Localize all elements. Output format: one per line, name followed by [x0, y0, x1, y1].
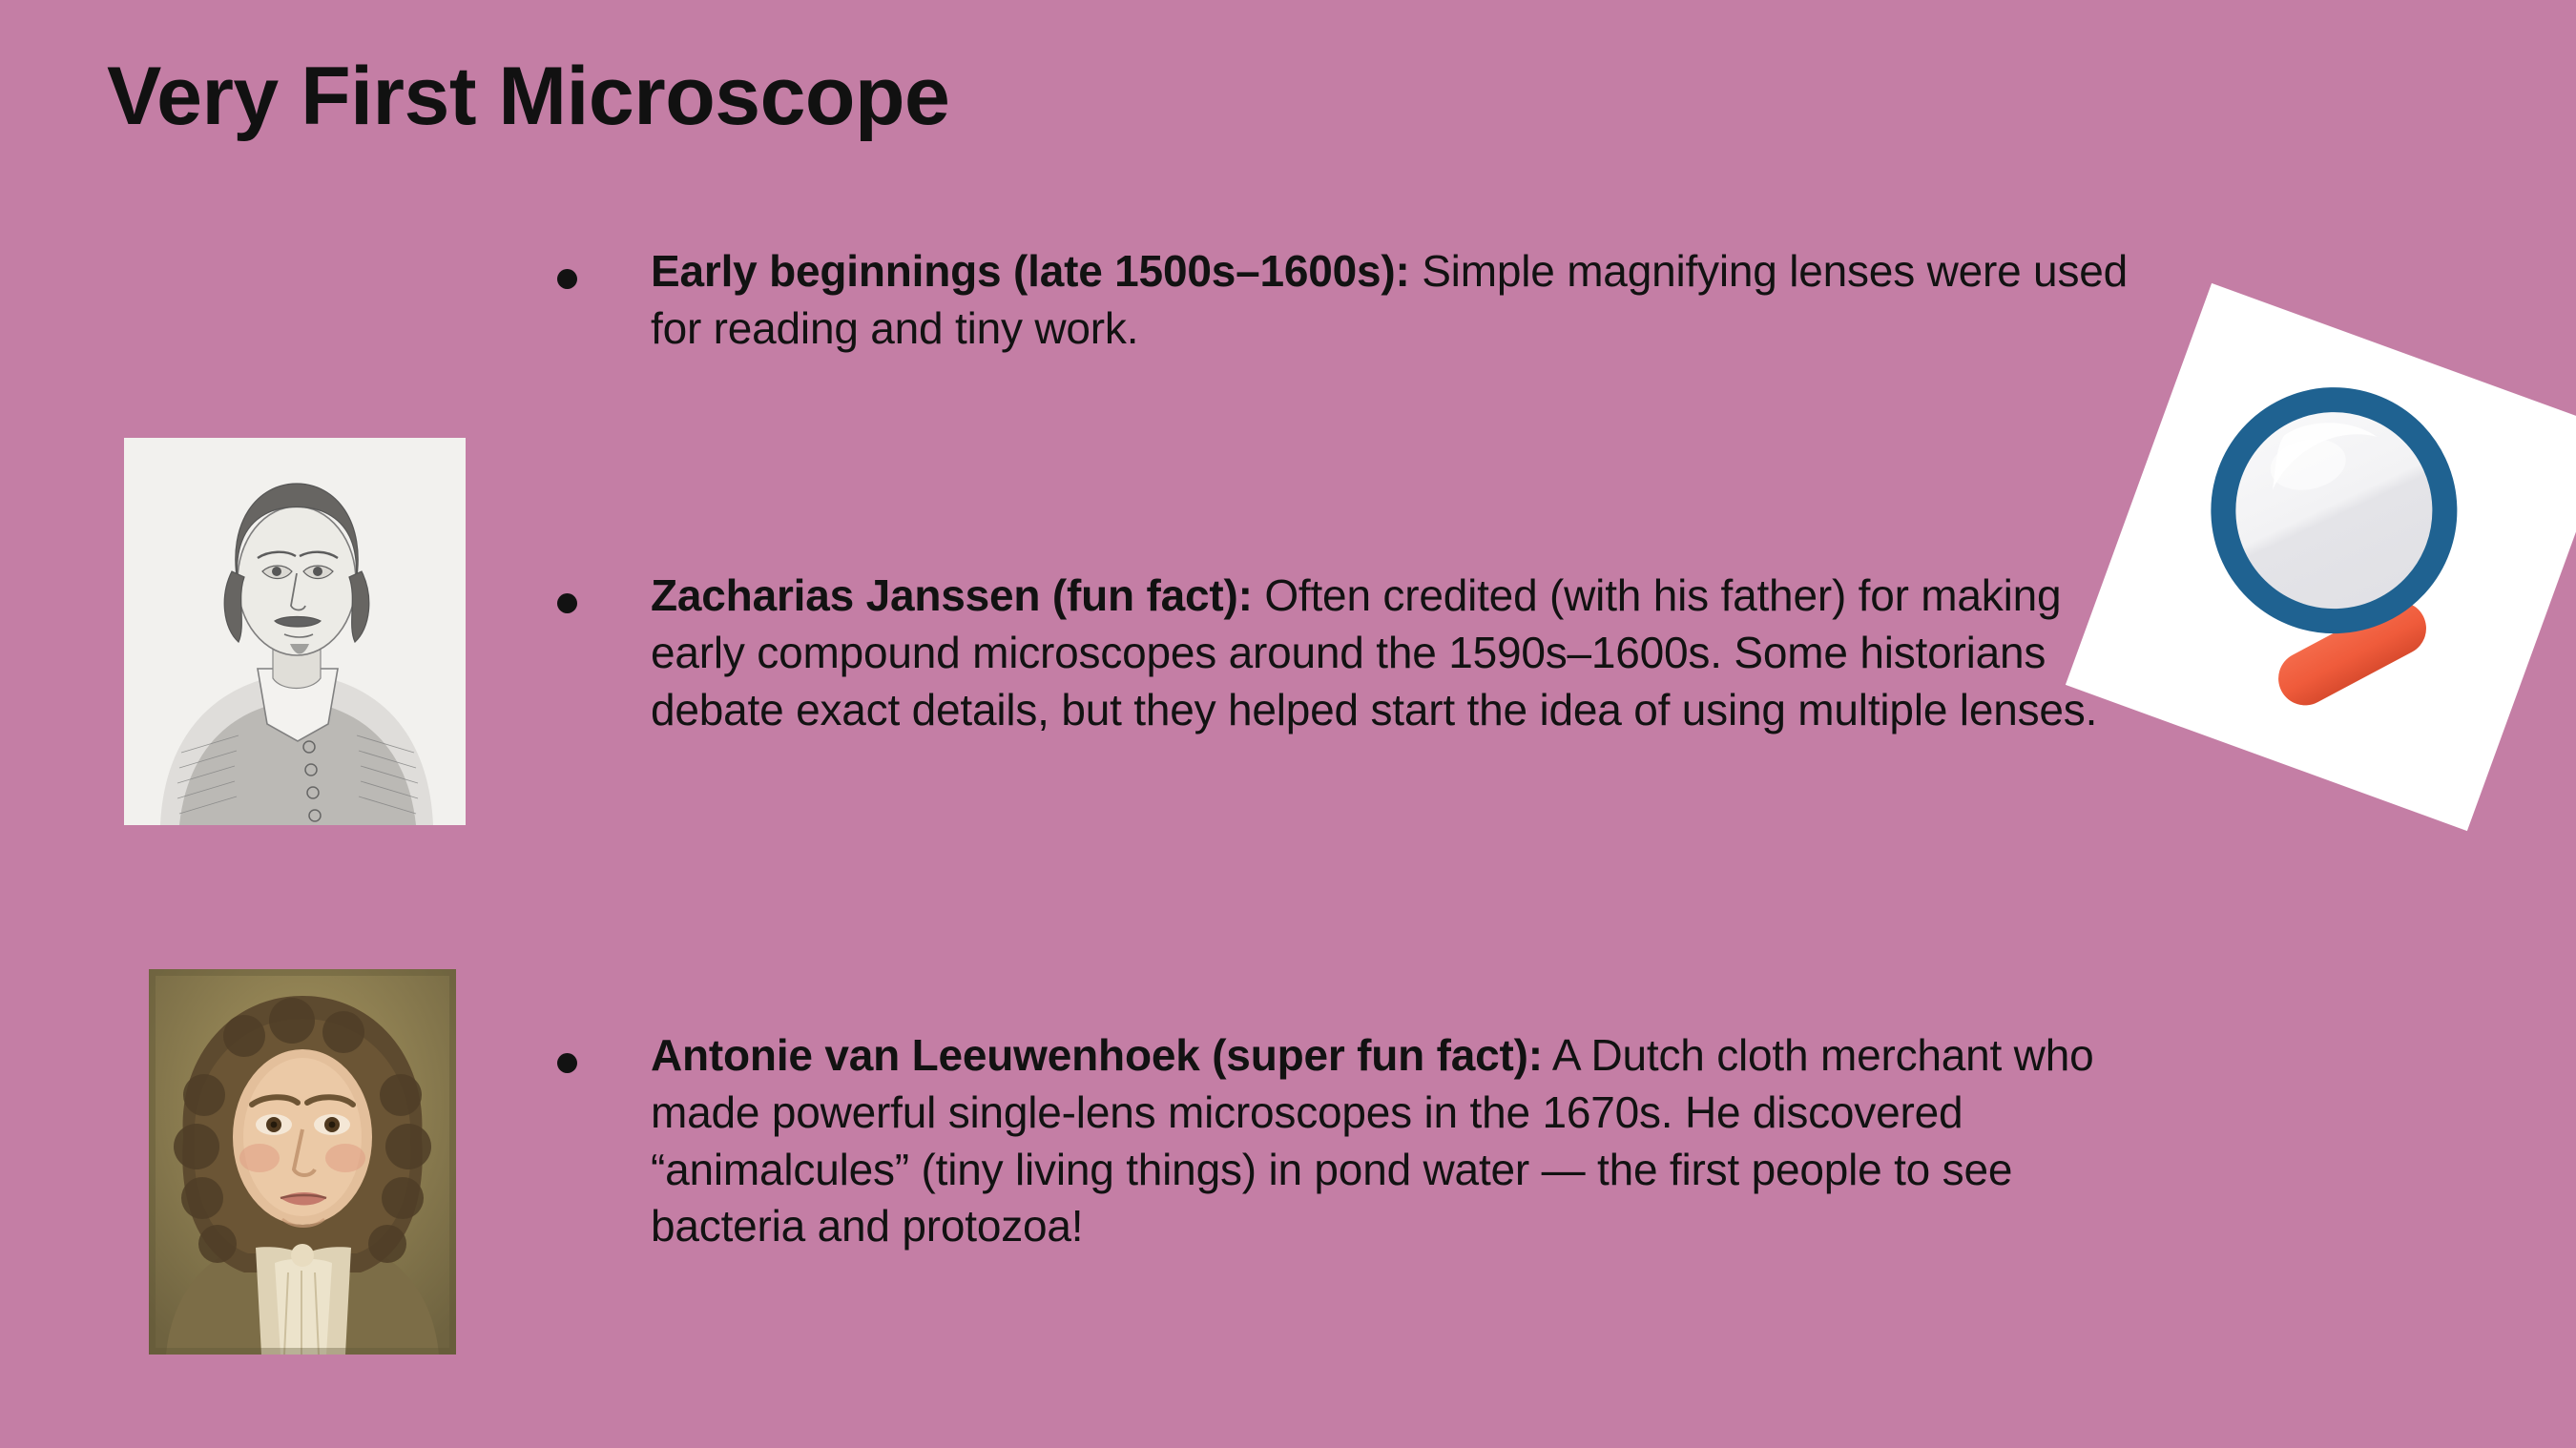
list-item: Zacharias Janssen (fun fact): Often cred…	[539, 568, 2151, 738]
bullet-lead: Antonie van Leeuwenhoek (super fun fact)…	[651, 1030, 1543, 1080]
portrait-antonie-van-leeuwenhoek	[149, 969, 456, 1355]
antonie-van-leeuwenhoek-painting-icon	[149, 969, 456, 1355]
bullet-lead: Early beginnings (late 1500s–1600s):	[651, 246, 1410, 296]
bullet-text: Zacharias Janssen (fun fact): Often cred…	[651, 568, 2151, 738]
bullet-text: Early beginnings (late 1500s–1600s): Sim…	[651, 243, 2151, 358]
zacharias-janssen-engraving-icon	[124, 438, 466, 825]
magnifying-glass-icon	[2123, 336, 2566, 785]
slide-canvas: Very First Microscope	[0, 0, 2576, 1448]
list-item: Early beginnings (late 1500s–1600s): Sim…	[539, 243, 2151, 358]
bullet-lead: Zacharias Janssen (fun fact):	[651, 570, 1253, 620]
magnifying-glass-card	[2066, 283, 2576, 831]
portrait-zacharias-janssen	[124, 438, 466, 825]
bullet-dot-icon	[557, 269, 577, 289]
bullet-text: Antonie van Leeuwenhoek (super fun fact)…	[651, 1027, 2151, 1255]
bullet-dot-icon	[557, 593, 577, 613]
bullet-dot-icon	[557, 1053, 577, 1073]
list-item: Antonie van Leeuwenhoek (super fun fact)…	[539, 1027, 2151, 1255]
page-title: Very First Microscope	[107, 52, 949, 141]
